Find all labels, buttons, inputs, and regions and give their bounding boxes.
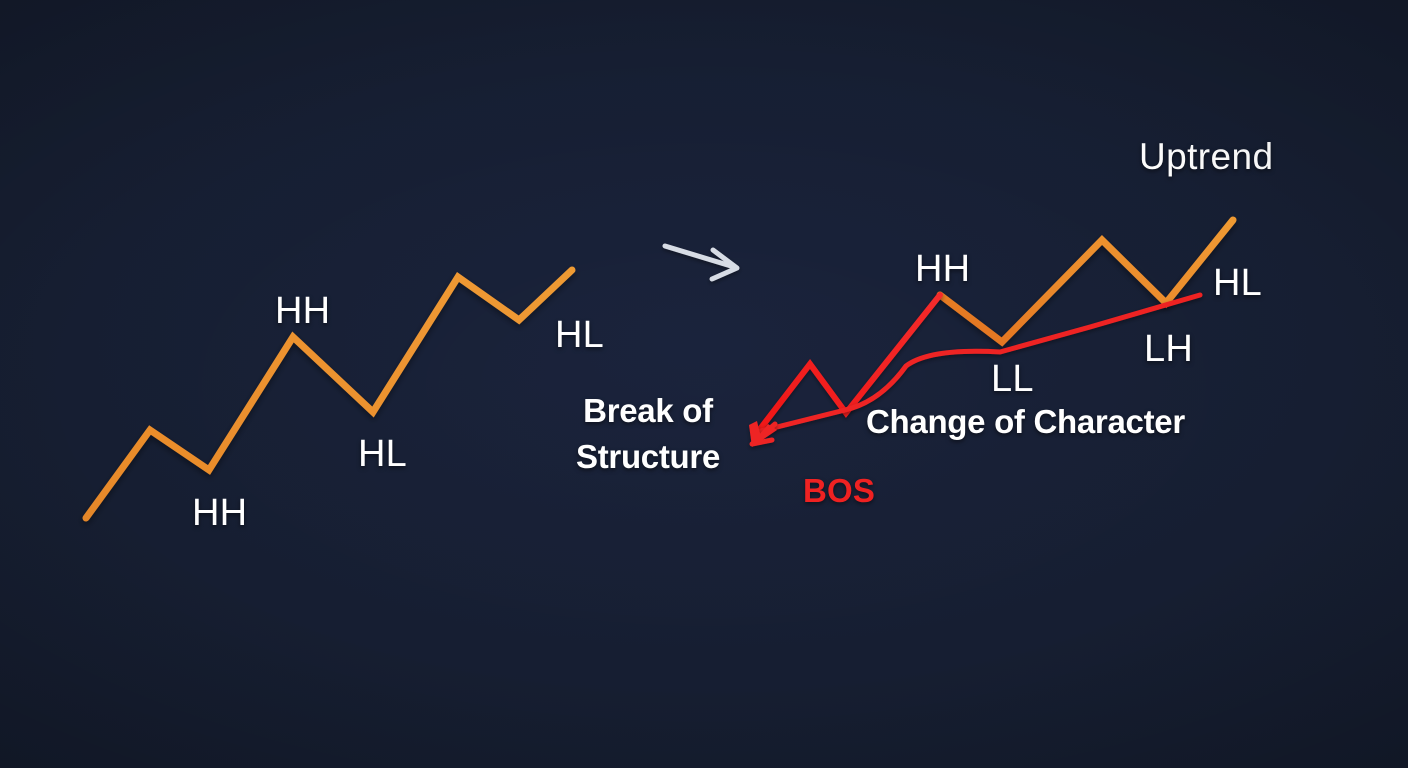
label-bos: BOS [803, 474, 875, 507]
transition-arrow-icon [665, 246, 737, 279]
label-change-of-character: Change of Character [866, 405, 1185, 438]
label-break-of-structure: Break of Structure [566, 388, 730, 479]
uptrend-line-right [940, 220, 1233, 342]
label-right-hl: HL [1213, 264, 1262, 302]
chart-vector-layer [0, 0, 1408, 768]
label-left-hl-right: HL [555, 316, 604, 354]
break-of-structure-line-1: Break of [566, 388, 730, 434]
label-right-lh: LH [1144, 330, 1193, 368]
label-left-hh-bottom: HH [192, 494, 247, 532]
label-uptrend: Uptrend [1139, 138, 1273, 175]
diagram-canvas: HH HH HL HL Break of Structure HH LL LH … [0, 0, 1408, 768]
break-of-structure-line-2: Structure [566, 434, 730, 480]
label-left-hh-top: HH [275, 292, 330, 330]
label-right-ll: LL [991, 360, 1034, 398]
label-right-hh: HH [915, 250, 970, 288]
label-left-hl-mid: HL [358, 435, 407, 473]
